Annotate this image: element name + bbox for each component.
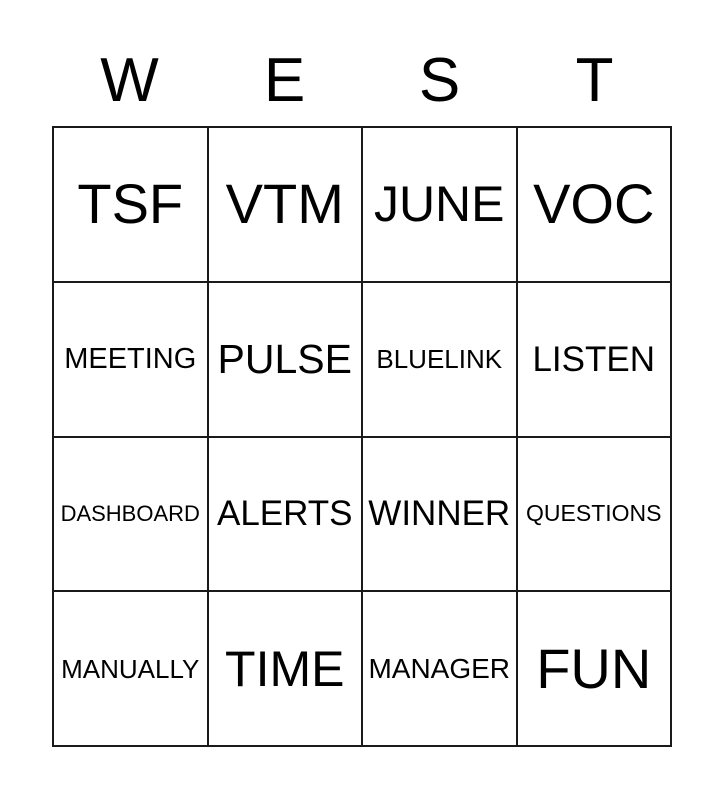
bingo-cell[interactable]: TSF [54,128,209,283]
bingo-cell-label: TSF [76,176,184,232]
bingo-cell-label: QUESTIONS [525,502,662,525]
bingo-cell[interactable]: VTM [209,128,364,283]
bingo-cell[interactable]: VOC [518,128,673,283]
bingo-cell[interactable]: ALERTS [209,438,364,593]
bingo-cell[interactable]: TIME [209,592,364,747]
bingo-header-letter-2: E [207,40,362,126]
bingo-cell-label: ALERTS [216,496,354,531]
bingo-cell[interactable]: BLUELINK [363,283,518,438]
bingo-header-row: W E S T [52,40,672,126]
bingo-cell-label: TIME [224,644,345,694]
bingo-grid: TSF VTM JUNE VOC MEETING PULSE BLUELINK … [52,126,672,747]
bingo-cell-label: BLUELINK [375,346,503,372]
bingo-cell[interactable]: DASHBOARD [54,438,209,593]
bingo-cell[interactable]: FUN [518,592,673,747]
bingo-cell-label: FUN [535,641,652,697]
bingo-card: W E S T TSF VTM JUNE VOC MEETING PULSE B… [0,0,723,800]
bingo-header-letter-4: T [517,40,672,126]
bingo-cell-label: MANAGER [367,655,511,683]
bingo-cell[interactable]: PULSE [209,283,364,438]
bingo-cell-label: MANUALLY [60,656,200,682]
bingo-cell[interactable]: MEETING [54,283,209,438]
bingo-cell-label: WINNER [367,496,511,531]
bingo-cell-label: MEETING [63,345,197,374]
bingo-cell[interactable]: LISTEN [518,283,673,438]
bingo-cell-label: VOC [532,176,655,232]
bingo-cell[interactable]: MANAGER [363,592,518,747]
bingo-cell-label: DASHBOARD [60,503,201,525]
bingo-header-letter-1: W [52,40,207,126]
bingo-cell-label: JUNE [373,179,506,229]
bingo-header-letter-3: S [362,40,517,126]
bingo-cell[interactable]: QUESTIONS [518,438,673,593]
bingo-cell-label: PULSE [217,339,353,380]
bingo-cell[interactable]: WINNER [363,438,518,593]
bingo-cell-label: LISTEN [531,342,656,377]
bingo-cell[interactable]: JUNE [363,128,518,283]
bingo-cell-label: VTM [225,176,345,232]
bingo-cell[interactable]: MANUALLY [54,592,209,747]
